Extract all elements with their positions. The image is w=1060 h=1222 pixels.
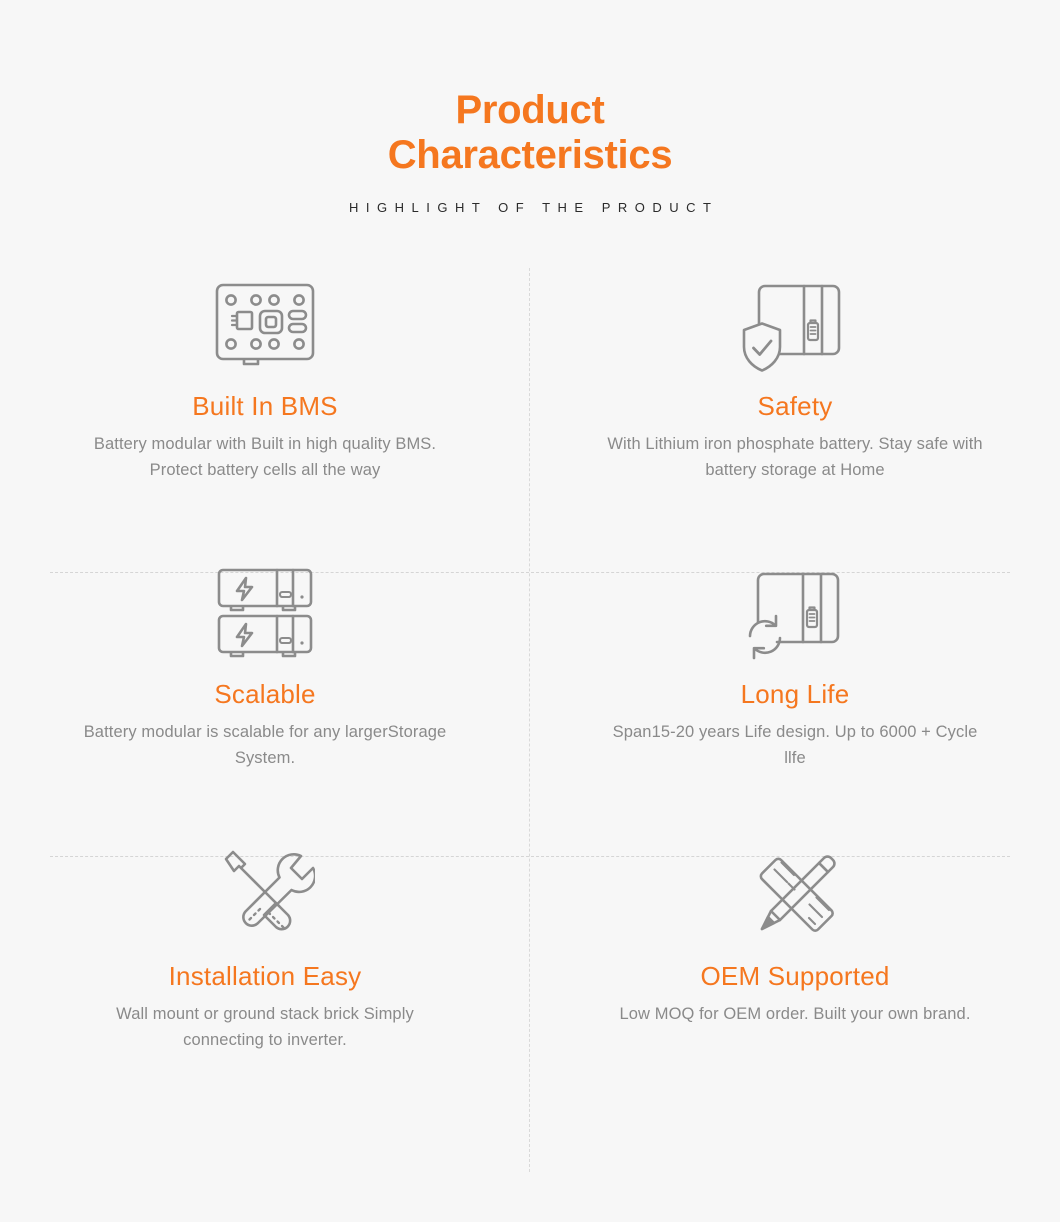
- pencil-ruler-icon: [745, 841, 845, 949]
- feature-title: Built In BMS: [192, 391, 337, 421]
- feature-card-scalable: Scalable Battery modular is scalable for…: [0, 537, 530, 821]
- product-characteristics-page: Product Characteristics HIGHLIGHT OF THE…: [0, 0, 1060, 1222]
- feature-title: OEM Supported: [700, 961, 889, 991]
- feature-card-built-in-bms: Built In BMS Battery modular with Built …: [0, 253, 530, 537]
- feature-title: Long Life: [741, 679, 850, 709]
- screwdriver-wrench-icon: [215, 841, 315, 949]
- feature-description: Battery modular with Built in high quali…: [75, 431, 455, 483]
- page-subtitle: HIGHLIGHT OF THE PRODUCT: [0, 200, 1060, 215]
- page-title-line-2: Characteristics: [320, 133, 740, 178]
- feature-grid: Built In BMS Battery modular with Built …: [0, 253, 1060, 1131]
- stacked-battery-modules-icon: [213, 559, 317, 667]
- feature-description: Span15-20 years Life design. Up to 6000 …: [605, 719, 985, 771]
- feature-card-safety: Safety With Lithium iron phosphate batte…: [530, 253, 1060, 537]
- feature-description: Battery modular is scalable for any larg…: [75, 719, 455, 771]
- feature-title: Safety: [758, 391, 833, 421]
- page-header: Product Characteristics HIGHLIGHT OF THE…: [0, 0, 1060, 215]
- feature-title: Scalable: [214, 679, 315, 709]
- feature-description: With Lithium iron phosphate battery. Sta…: [605, 431, 985, 483]
- feature-title: Installation Easy: [169, 961, 362, 991]
- battery-cabinet-cycle-arrows-icon: [740, 559, 850, 667]
- feature-description: Low MOQ for OEM order. Built your own br…: [619, 1001, 970, 1027]
- circuit-board-icon: [211, 271, 319, 379]
- feature-card-long-life: Long Life Span15-20 years Life design. U…: [530, 537, 1060, 821]
- feature-card-oem-supported: OEM Supported Low MOQ for OEM order. Bui…: [530, 821, 1060, 1131]
- feature-card-installation-easy: Installation Easy Wall mount or ground s…: [0, 821, 530, 1131]
- page-title: Product Characteristics: [320, 88, 740, 178]
- battery-cabinet-shield-check-icon: [739, 271, 851, 379]
- page-title-line-1: Product: [320, 88, 740, 133]
- feature-description: Wall mount or ground stack brick Simply …: [75, 1001, 455, 1053]
